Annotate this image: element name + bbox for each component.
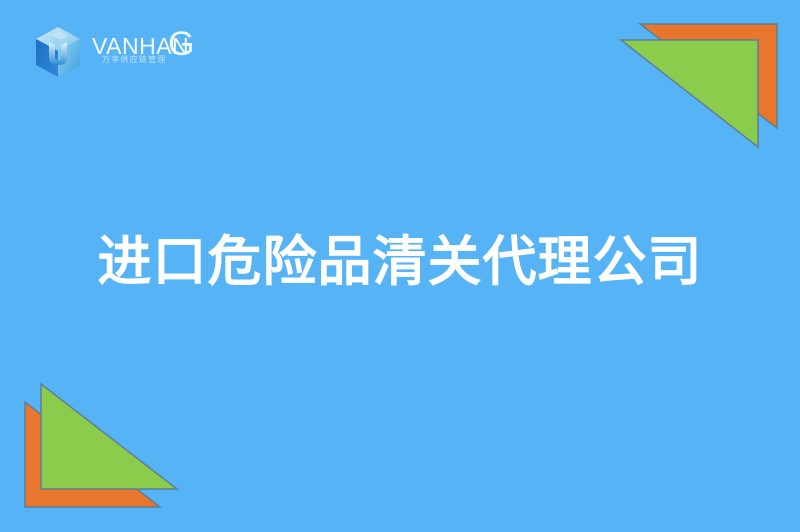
top-right-green-triangle: [621, 40, 758, 147]
bottom-left-green-triangle: [41, 384, 177, 489]
top-right-orange-triangle: [640, 24, 777, 128]
page-title: 进口危险品清关代理公司: [0, 233, 800, 292]
logo-subtitle: 万享供应链管理: [102, 56, 166, 64]
logo-wordmark-g: G: [168, 27, 194, 61]
slide-canvas: VANHAN G 万享供应链管理 进口危险品清关代理公司: [0, 0, 800, 532]
bottom-left-orange-triangle: [25, 402, 160, 507]
vanhang-cube-icon: [33, 25, 83, 79]
brand-logo: VANHAN G 万享供应链管理: [33, 24, 204, 80]
logo-wordmark-group: VANHAN G 万享供应链管理: [92, 29, 204, 75]
